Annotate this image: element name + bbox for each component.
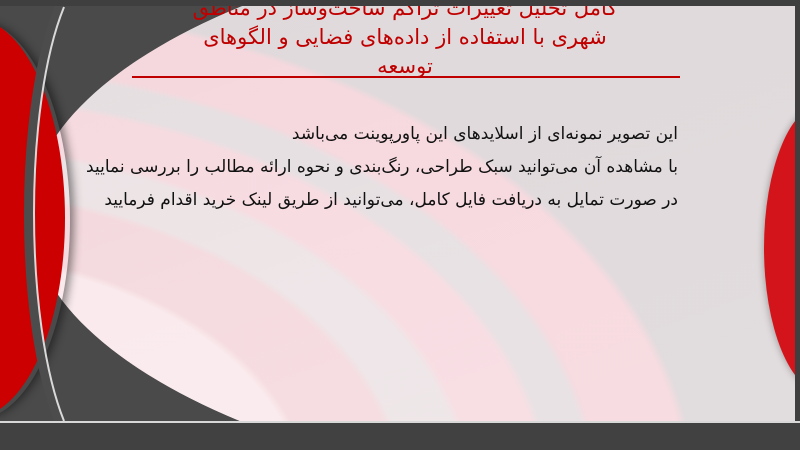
slide-frame-bottom-highlight <box>0 421 800 423</box>
slide-body: این تصویر نمونه‌ای از اسلایدهای این پاور… <box>118 118 678 217</box>
body-line-3: در صورت تمایل به دریافت فایل کامل، می‌تو… <box>118 184 678 217</box>
slide-title: کامل تحلیل تغییرات تراکم ساخت‌وساز در من… <box>120 0 690 81</box>
slide-frame-bottom <box>0 422 800 450</box>
presentation-slide: کامل تحلیل تغییرات تراکم ساخت‌وساز در من… <box>0 0 800 450</box>
title-underline-rule <box>132 76 680 78</box>
slide-frame-top <box>0 0 800 6</box>
body-line-2: با مشاهده آن می‌توانید سبک طراحی، رنگ‌بن… <box>118 151 678 184</box>
red-ellipse-left <box>0 18 65 418</box>
body-line-1: این تصویر نمونه‌ای از اسلایدهای این پاور… <box>118 118 678 151</box>
slide-title-text: کامل تحلیل تغییرات تراکم ساخت‌وساز در من… <box>120 0 690 81</box>
slide-frame-right <box>795 0 800 450</box>
